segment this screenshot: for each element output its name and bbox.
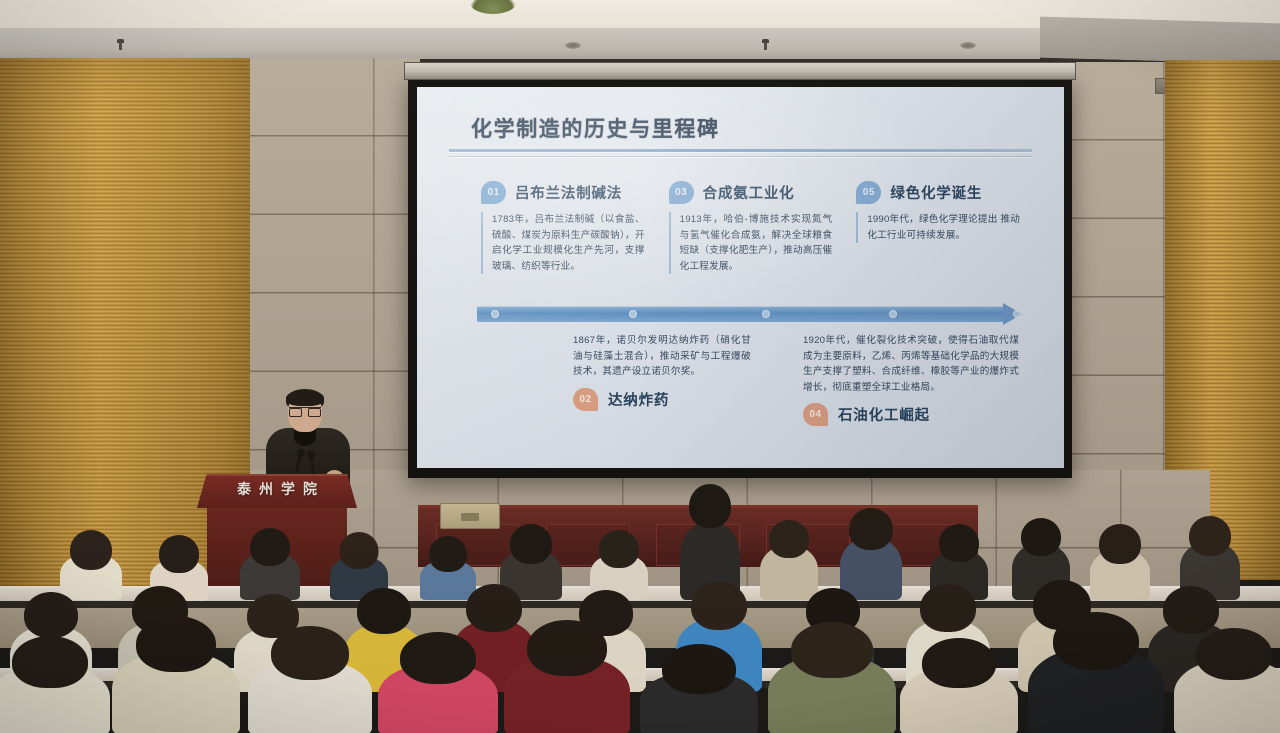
- timeline-node: [1013, 310, 1021, 318]
- attendee: [0, 636, 110, 733]
- attendee: [768, 622, 896, 733]
- attendee: [112, 616, 240, 733]
- timeline-node: [762, 310, 770, 318]
- milestone-body: 1913年，哈伯-博施技术实现氮气与氢气催化合成氨，解决全球粮食短缺（支撑化肥生…: [669, 212, 833, 274]
- presentation-slide: 化学制造的历史与里程碑 01 吕布兰法制碱法 1783年，吕布兰法制碱（以食盐、…: [417, 87, 1064, 468]
- milestone-title: 达纳炸药: [608, 389, 669, 410]
- milestone-title: 合成氨工业化: [703, 182, 795, 203]
- attendee: [840, 508, 902, 600]
- attendee: [378, 632, 498, 733]
- milestone-card-04: 1920年代，催化裂化技术突破，使得石油取代煤成为主要原料，乙烯、丙烯等基础化学…: [803, 333, 1019, 453]
- milestone-number-badge: 05: [856, 181, 881, 204]
- timeline-node: [629, 310, 637, 318]
- ceiling-spotlight-icon: [760, 39, 771, 51]
- milestone-body: 1990年代，绿色化学理论提出 推动化工行业可持续发展。: [856, 212, 1020, 243]
- timeline-node: [889, 310, 897, 318]
- milestone-title: 石油化工崛起: [838, 404, 930, 425]
- projection-screen: 化学制造的历史与里程碑 01 吕布兰法制碱法 1783年，吕布兰法制碱（以食盐、…: [408, 78, 1072, 478]
- attendee: [504, 620, 630, 733]
- milestone-number-badge: 03: [669, 181, 694, 204]
- attendee: [640, 644, 758, 733]
- podium-institution-label: 泰州学院: [197, 479, 357, 499]
- milestone-body: 1920年代，催化裂化技术突破，使得石油取代煤成为主要原料，乙烯、丙烯等基础化学…: [803, 333, 1019, 395]
- timeline-arrow: [477, 303, 1022, 325]
- milestone-card-01: 01 吕布兰法制碱法 1783年，吕布兰法制碱（以食盐、硫酸、煤炭为原料生产碳酸…: [481, 179, 645, 297]
- milestone-title: 吕布兰法制碱法: [515, 182, 622, 203]
- timeline-top-cards: 01 吕布兰法制碱法 1783年，吕布兰法制碱（以食盐、硫酸、煤炭为原料生产碳酸…: [447, 179, 1034, 297]
- milestone-number-badge: 04: [803, 403, 828, 426]
- ceiling-downlight-icon: [565, 42, 581, 49]
- milestone-number-badge: 02: [573, 388, 598, 411]
- ceiling-spotlight-icon: [115, 39, 126, 51]
- milestone-body: 1867年，诺贝尔发明达纳炸药（硝化甘油与硅藻土混合），推动采矿与工程爆破技术，…: [573, 333, 751, 380]
- attendee: [240, 528, 300, 600]
- attendee: [60, 530, 122, 600]
- title-underline: [449, 149, 1032, 152]
- milestone-card-03: 03 合成氨工业化 1913年，哈伯-博施技术实现氮气与氢气催化合成氨，解决全球…: [669, 179, 833, 297]
- attendee: [1174, 628, 1280, 733]
- title-underline-thin: [449, 156, 1032, 157]
- eyeglasses-icon: [289, 407, 321, 414]
- milestone-card-02: 1867年，诺贝尔发明达纳炸药（硝化甘油与硅藻土混合），推动采矿与工程爆破技术，…: [573, 333, 751, 453]
- attendee: [1028, 612, 1164, 733]
- lecture-hall-photo: 化学制造的历史与里程碑 01 吕布兰法制碱法 1783年，吕布兰法制碱（以食盐、…: [0, 0, 1280, 733]
- slide-title: 化学制造的历史与里程碑: [447, 113, 1034, 143]
- milestone-body: 1783年，吕布兰法制碱（以食盐、硫酸、煤炭为原料生产碳酸钠），开启化学工业规模…: [481, 212, 645, 274]
- milestone-number-badge: 01: [481, 181, 506, 204]
- attendee: [900, 638, 1018, 733]
- projector-screen-roller: [404, 62, 1076, 80]
- ceiling-downlight-icon: [960, 42, 976, 49]
- timeline-node: [491, 310, 499, 318]
- milestone-title: 绿色化学诞生: [890, 182, 982, 203]
- timeline-bottom-cards: 1867年，诺贝尔发明达纳炸药（硝化甘油与硅藻土混合），推动采矿与工程爆破技术，…: [447, 325, 1034, 453]
- milestone-card-05: 05 绿色化学诞生 1990年代，绿色化学理论提出 推动化工行业可持续发展。: [856, 179, 1020, 297]
- laptop-on-table: [440, 503, 500, 529]
- attendee: [248, 626, 372, 733]
